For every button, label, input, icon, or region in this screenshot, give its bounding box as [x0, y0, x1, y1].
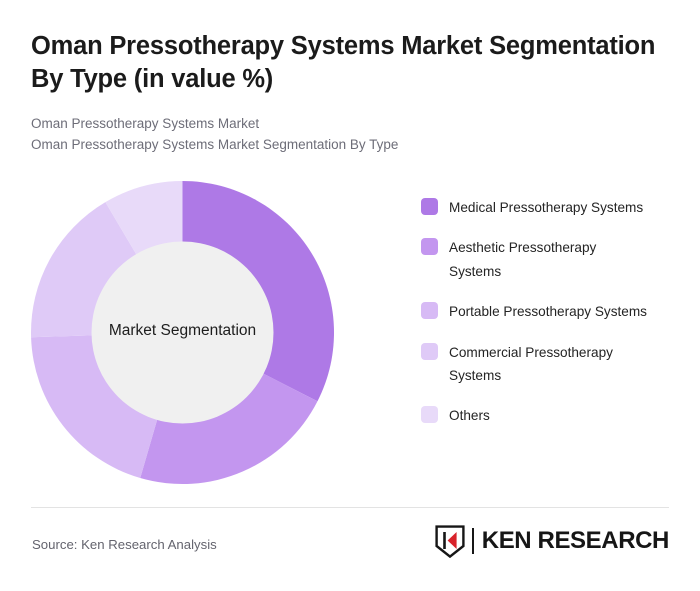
legend-item[interactable]: Medical Pressotherapy Systems	[421, 196, 671, 219]
legend-swatch-icon	[421, 238, 438, 255]
chart-legend: Medical Pressotherapy SystemsAesthetic P…	[421, 196, 671, 428]
legend-swatch-icon	[421, 343, 438, 360]
legend-item[interactable]: Commercial Pressotherapy Systems	[421, 341, 671, 388]
legend-item[interactable]: Aesthetic Pressotherapy Systems	[421, 236, 671, 283]
logo-wordmark: KEN RESEARCH	[482, 527, 669, 555]
donut-center-label: Market Segmentation	[92, 322, 273, 341]
legend-item[interactable]: Portable Pressotherapy Systems	[421, 300, 671, 323]
chart-card-body: Oman Pressotherapy Systems Market Segmen…	[0, 0, 700, 591]
legend-item-label: Commercial Pressotherapy Systems	[449, 341, 649, 388]
legend-item[interactable]: Others	[421, 404, 671, 427]
legend-swatch-icon	[421, 198, 438, 215]
donut-chart: Market Segmentation	[0, 0, 400, 591]
legend-item-label: Aesthetic Pressotherapy Systems	[449, 236, 649, 283]
legend-swatch-icon	[421, 406, 438, 423]
chart-card: Oman Pressotherapy Systems Market Segmen…	[0, 0, 700, 591]
legend-item-label: Medical Pressotherapy Systems	[449, 196, 643, 219]
source-note: Source: Ken Research Analysis	[32, 537, 217, 552]
logo-separator	[472, 528, 474, 554]
legend-swatch-icon	[421, 302, 438, 319]
ken-research-logo: KEN RESEARCH	[435, 524, 669, 558]
legend-item-label: Others	[449, 404, 490, 427]
footer-divider	[31, 507, 669, 508]
ken-research-shield-icon	[435, 525, 465, 558]
legend-item-label: Portable Pressotherapy Systems	[449, 300, 647, 323]
